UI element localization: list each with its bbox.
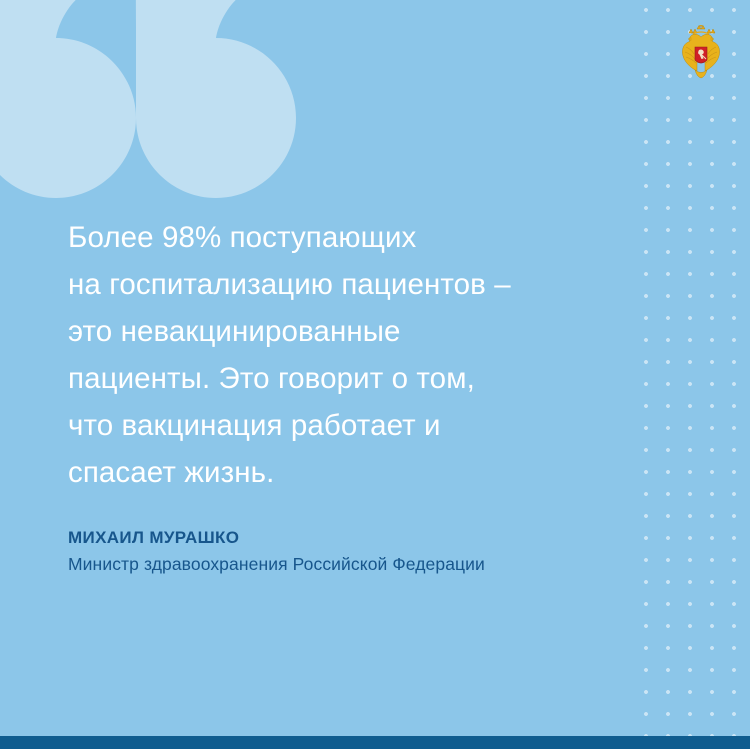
attribution-block: МИХАИЛ МУРАШКО Министр здравоохранения Р… (68, 526, 608, 577)
quote-card: Более 98% поступающих на госпитализацию … (0, 0, 750, 749)
author-title: Министр здравоохранения Российской Федер… (68, 552, 608, 577)
footer-accent-bar (0, 736, 750, 749)
quote-statement: Более 98% поступающих на госпитализацию … (68, 214, 608, 496)
author-name: МИХАИЛ МУРАШКО (68, 526, 608, 549)
dotted-grid-pattern (638, 0, 750, 736)
opening-double-quotation-mark (0, 0, 296, 202)
quote-content: Более 98% поступающих на госпитализацию … (68, 214, 608, 577)
russian-federation-coat-of-arms (676, 25, 726, 79)
